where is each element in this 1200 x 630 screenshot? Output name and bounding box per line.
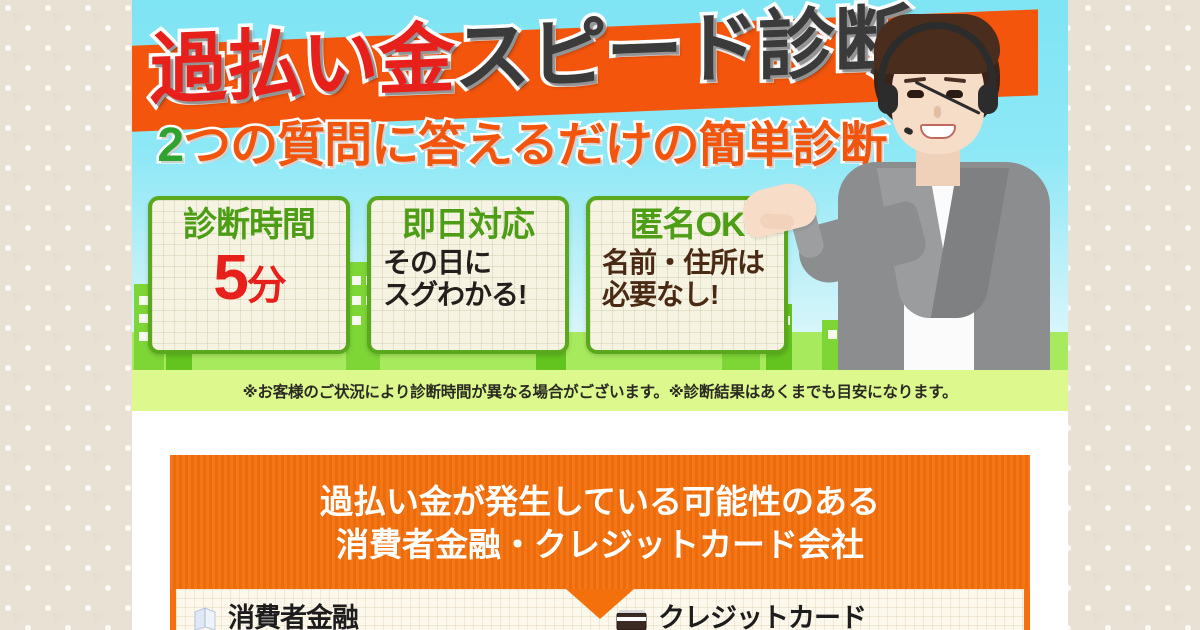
book-icon (192, 607, 218, 630)
feature-body-line: その日に (383, 247, 559, 279)
subheadline-segment-1: 2 (157, 122, 183, 170)
operator-mouth (920, 124, 956, 139)
company-column-label: クレジットカード (658, 605, 866, 630)
feature-body: その日に スグわかる! (377, 247, 559, 311)
operator-photo (812, 0, 1062, 370)
feature-body: 名前・住所は 必要なし! (596, 247, 778, 311)
feature-title: 即日対応 (377, 207, 559, 243)
hero-banner: 過払い金スピード診断 2つの質問に答えるだけの簡単診断 診断時間 5分 即日対応… (132, 0, 1068, 370)
section-heading-line-2: 消費者金融・クレジットカード会社 (336, 524, 864, 567)
disclaimer-bar: ※お客様のご状況により診断時間が異なる場合がございます。※診断結果はあくまでも目… (132, 370, 1068, 411)
feature-number: 5 (213, 241, 247, 313)
operator-thumb (760, 213, 795, 230)
section-heading-line-1: 過払い金が発生している可能性のある (320, 481, 880, 524)
section-heading-panel: 過払い金が発生している可能性のある 消費者金融・クレジットカード会社 (170, 455, 1030, 593)
landing-page: 過払い金スピード診断 2つの質問に答えるだけの簡単診断 診断時間 5分 即日対応… (0, 0, 1200, 630)
feature-box-same-day-support: 即日対応 その日に スグわかる! (367, 196, 569, 354)
feature-body-line: スグわかる! (383, 279, 559, 311)
disclaimer-text: ※お客様のご状況により診断時間が異なる場合がございます。※診断結果はあくまでも目… (243, 380, 958, 402)
feature-big-value: 5分 (158, 245, 340, 310)
headset-earcup-right-icon (978, 84, 998, 114)
feature-title: 診断時間 (158, 207, 340, 243)
feature-unit: 分 (247, 264, 285, 308)
feature-box-diagnosis-time: 診断時間 5分 (148, 196, 350, 354)
section-arrow-icon (566, 589, 634, 619)
headline-segment-1: 過払い金 (150, 21, 454, 110)
operator-nose (934, 106, 941, 118)
company-column-consumer-finance: 消費者金融 (176, 605, 600, 630)
subheadline-segment-2: つの質問に答えるだけの簡単診断 (183, 122, 887, 170)
feature-body-line: 名前・住所は (602, 247, 778, 279)
headset-earcup-left-icon (878, 84, 898, 114)
hero-subheadline: 2つの質問に答えるだけの簡単診断 (152, 122, 892, 170)
company-column-credit-card: クレジットカード (600, 605, 1024, 630)
company-column-label: 消費者金融 (228, 605, 358, 630)
feature-body-line: 必要なし! (602, 279, 778, 311)
